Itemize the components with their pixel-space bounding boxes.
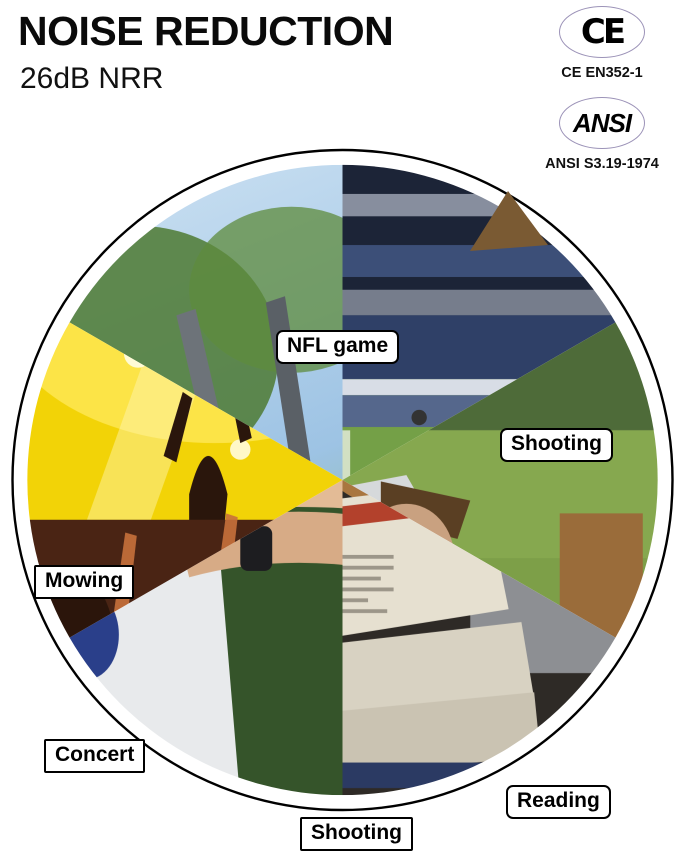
usage-scenario-wheel: 30 NKS (8, 147, 677, 816)
ce-caption: CE EN352-1 (527, 65, 677, 81)
ce-mark-icon: CE (559, 6, 645, 58)
header: NOISE REDUCTION 26dB NRR CE CE EN352-1 A… (0, 0, 679, 150)
certification-ce: CE CE EN352-1 (527, 6, 677, 81)
segment-label-reading: Reading (506, 785, 611, 819)
wheel-svg: 30 NKS (8, 147, 677, 816)
page-subtitle: 26dB NRR (20, 62, 163, 96)
segment-label-nfl-game: NFL game (276, 330, 399, 364)
segment-label-concert: Concert (44, 739, 145, 773)
ansi-mark-icon: ANSI (559, 97, 645, 149)
segment-label-shooting-shotgun: Shooting (500, 428, 613, 462)
ansi-mark-label: ANSI (573, 110, 631, 136)
page-title: NOISE REDUCTION (18, 8, 393, 55)
ce-mark-label: CE (581, 15, 623, 49)
segment-label-shooting-pistol: Shooting (300, 817, 413, 851)
segment-label-mowing: Mowing (34, 565, 134, 599)
